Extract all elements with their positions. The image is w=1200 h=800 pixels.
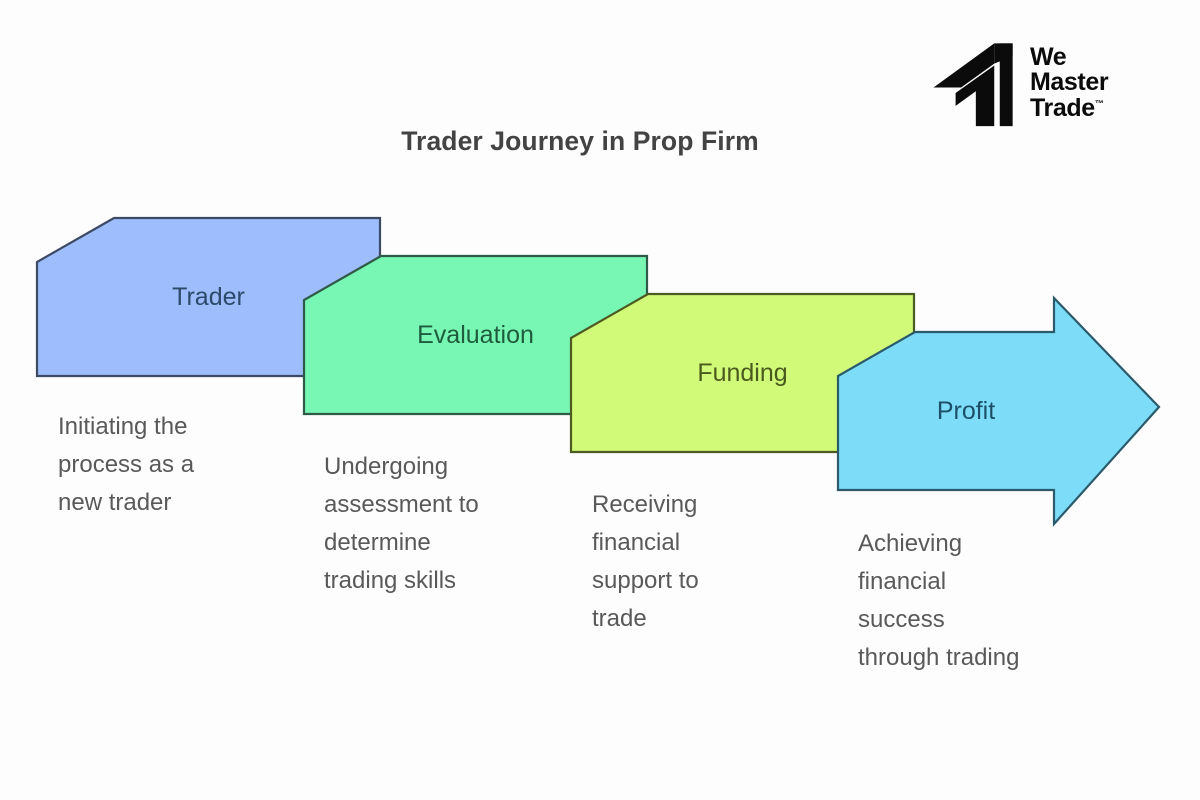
- stage-polygon: [838, 298, 1159, 524]
- stage-caption-evaluation: Undergoing assessment to determine tradi…: [324, 448, 479, 600]
- brand-line-1: We: [1030, 45, 1108, 71]
- process-stage-profit[interactable]: Profit: [838, 332, 1159, 490]
- brand-line-3-text: Trade: [1030, 94, 1095, 122]
- stage-shape-icon: [832, 326, 1165, 496]
- stage-caption-funding: Receiving financial support to trade: [592, 486, 699, 638]
- we-master-trade-arrow-mark-icon: [928, 36, 1020, 128]
- brand-wordmark: We Master Trade™: [1030, 45, 1108, 122]
- trademark-symbol: ™: [1095, 98, 1104, 108]
- brand-logo: We Master Trade™: [928, 28, 1158, 136]
- brand-line-2: Master: [1030, 70, 1108, 96]
- diagram-canvas: We Master Trade™ Trader Journey in Prop …: [0, 0, 1200, 800]
- brand-line-3: Trade™: [1030, 96, 1108, 122]
- page-title: Trader Journey in Prop Firm: [0, 126, 1160, 157]
- stage-caption-profit: Achieving financial success through trad…: [858, 525, 1019, 677]
- stage-caption-trader: Initiating the process as a new trader: [58, 408, 194, 522]
